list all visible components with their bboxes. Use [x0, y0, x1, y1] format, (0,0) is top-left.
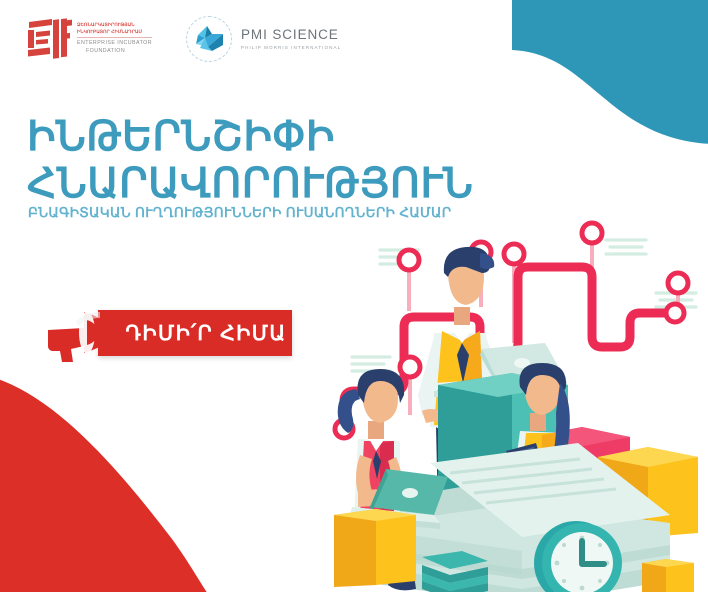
page-title: ԻՆԹԵՐՆՇԻՓԻ ՀՆԱՐԱՎՈՐՈՒԹՅՈՒՆ [27, 113, 547, 207]
headline-line-1: ԻՆԹԵՐՆՇԻՓԻ [27, 113, 547, 160]
pmi-logo-circle [186, 16, 232, 62]
bottom-left-wave-decoration [0, 379, 208, 592]
pmi-logo-text: PMI SCIENCE PHILIP MORRIS INTERNATIONAL [241, 28, 341, 50]
logo-row: ՁԵՌՆԱՐԿԱՏԻՐՈՒԹՅԱՆ ԻՆԿՈՒԲԱՏՈՐ ՀԻՄՆԱԴՐԱՄ E… [26, 16, 341, 62]
apply-now-cta[interactable]: ԴԻՄԻ՛Ր ՀԻՄԱ [40, 300, 292, 366]
pmi-title: PMI SCIENCE [241, 28, 341, 42]
cube-yellow-small [642, 559, 694, 592]
pmi-science-logo[interactable]: PMI SCIENCE PHILIP MORRIS INTERNATIONAL [186, 16, 341, 62]
pmi-subtitle: PHILIP MORRIS INTERNATIONAL [241, 45, 341, 50]
pmi-bird-icon [194, 25, 224, 53]
eif-english-line-2: FOUNDATION [77, 48, 152, 56]
eif-logo[interactable]: ՁԵՌՆԱՐԿԱՏԻՐՈՒԹՅԱՆ ԻՆԿՈՒԲԱՏՈՐ ՀԻՄՆԱԴՐԱՄ E… [26, 18, 152, 60]
headline-line-2: ՀՆԱՐԱՎՈՐՈՒԹՅՈՒՆ [27, 160, 547, 207]
eif-english-line-1: ENTERPRISE INCUBATOR [77, 40, 152, 48]
cube-yellow-under-seat [334, 509, 416, 587]
eif-mark-icon [26, 18, 72, 60]
poster-canvas: ՁԵՌՆԱՐԿԱՏԻՐՈՒԹՅԱՆ ԻՆԿՈՒԲԱՏՈՐ ՀԻՄՆԱԴՐԱՄ E… [0, 0, 708, 592]
students-working-illustration [330, 215, 708, 592]
eif-logo-text: ՁԵՌՆԱՐԿԱՏԻՐՈՒԹՅԱՆ ԻՆԿՈՒԲԱՏՈՐ ՀԻՄՆԱԴՐԱՄ E… [77, 22, 152, 55]
eif-divider [77, 37, 152, 38]
eif-armenian-line-2: ԻՆԿՈՒԲԱՏՈՐ ՀԻՄՆԱԴՐԱՄ [77, 29, 152, 35]
megaphone-icon [40, 300, 160, 366]
